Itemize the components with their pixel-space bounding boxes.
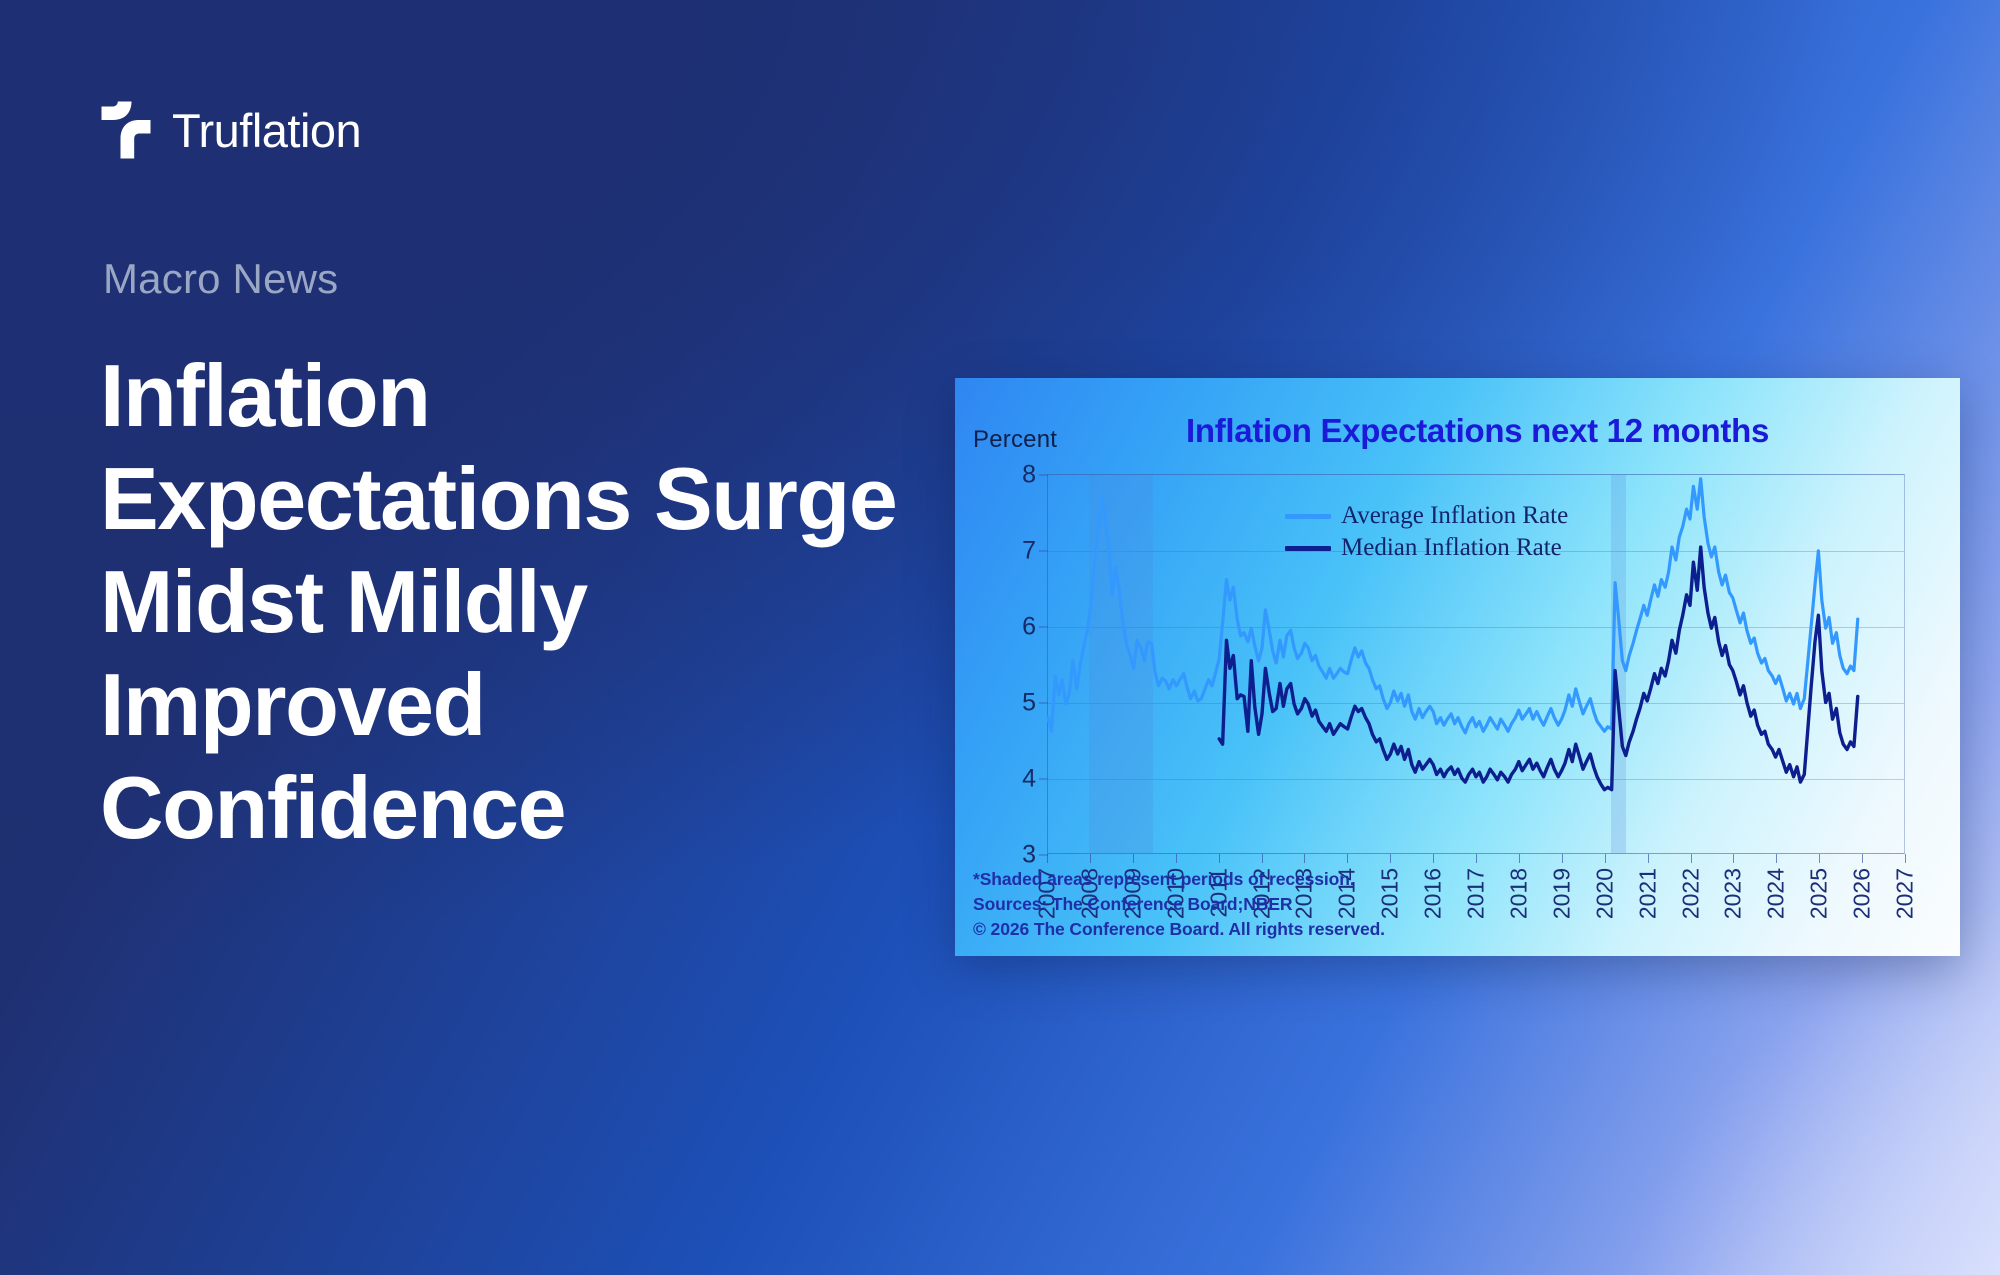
x-axis-tick-mark xyxy=(1819,854,1820,863)
footnote-copyright: © 2026 The Conference Board. All rights … xyxy=(973,917,1385,942)
y-axis-tick-label: 7 xyxy=(1022,539,1036,564)
footnote-sources: Sources: The Conference Board;NBER xyxy=(973,892,1385,917)
chart-title: Inflation Expectations next 12 months xyxy=(955,412,1960,450)
x-axis-tick-label: 2026 xyxy=(1851,868,1874,919)
x-axis-tick-mark xyxy=(1733,854,1734,863)
legend-swatch-average xyxy=(1285,514,1331,519)
y-axis-tick-label: 5 xyxy=(1022,691,1036,716)
article-kicker: Macro News xyxy=(103,255,338,303)
x-axis-tick-label: 2027 xyxy=(1894,868,1917,919)
y-axis-tick-mark xyxy=(1039,627,1048,628)
x-axis-tick-label: 2023 xyxy=(1722,868,1745,919)
x-axis-tick-mark xyxy=(1648,854,1649,863)
x-axis-tick-mark xyxy=(1605,854,1606,863)
y-axis-tick-mark xyxy=(1039,779,1048,780)
legend-item-average: Average Inflation Rate xyxy=(1285,500,1568,532)
y-axis-tick-mark xyxy=(1039,703,1048,704)
y-axis-tick-label: 3 xyxy=(1022,843,1036,868)
footnote-shaded: *Shaded areas represent periods of reces… xyxy=(973,867,1385,892)
x-axis-tick-mark xyxy=(1304,854,1305,863)
x-axis-tick-mark xyxy=(1562,854,1563,863)
y-axis-tick-mark xyxy=(1039,551,1048,552)
x-axis-tick-mark xyxy=(1862,854,1863,863)
x-axis-tick-mark xyxy=(1047,854,1048,863)
x-axis-tick-mark xyxy=(1390,854,1391,863)
x-axis-tick-label: 2017 xyxy=(1465,868,1488,919)
x-axis-tick-mark xyxy=(1691,854,1692,863)
x-axis-tick-mark xyxy=(1519,854,1520,863)
x-axis-tick-label: 2019 xyxy=(1550,868,1573,919)
x-axis-tick-mark xyxy=(1347,854,1348,863)
x-axis-tick-label: 2025 xyxy=(1808,868,1831,919)
x-axis-tick-mark xyxy=(1776,854,1777,863)
x-axis-tick-label: 2018 xyxy=(1507,868,1530,919)
x-axis-tick-mark xyxy=(1905,854,1906,863)
poster-canvas: Truflation Macro News Inflation Expectat… xyxy=(0,0,2000,1275)
truflation-logo-mark-icon xyxy=(100,100,152,160)
x-axis-tick-label: 2022 xyxy=(1679,868,1702,919)
y-axis-tick-label: 4 xyxy=(1022,767,1036,792)
series-line-median xyxy=(1219,547,1858,790)
x-axis-tick-mark xyxy=(1476,854,1477,863)
brand-wordmark: Truflation xyxy=(172,107,361,154)
x-axis-tick-label: 2016 xyxy=(1422,868,1445,919)
x-axis-tick-mark xyxy=(1262,854,1263,863)
chart-card: Percent Inflation Expectations next 12 m… xyxy=(955,378,1960,956)
x-axis-tick-mark xyxy=(1090,854,1091,863)
y-axis-tick-mark xyxy=(1039,475,1048,476)
legend-label-median: Median Inflation Rate xyxy=(1341,532,1562,564)
x-axis-tick-label: 2024 xyxy=(1765,868,1788,919)
chart-legend: Average Inflation Rate Median Inflation … xyxy=(1285,500,1568,564)
legend-item-median: Median Inflation Rate xyxy=(1285,532,1568,564)
x-axis-tick-mark xyxy=(1433,854,1434,863)
page-title: Inflation Expectations Surge Midst Mildl… xyxy=(100,345,940,860)
y-axis-tick-label: 6 xyxy=(1022,615,1036,640)
y-axis-tick-label: 8 xyxy=(1022,463,1036,488)
x-axis-tick-label: 2020 xyxy=(1593,868,1616,919)
x-axis-tick-mark xyxy=(1133,854,1134,863)
x-axis-tick-mark xyxy=(1219,854,1220,863)
legend-swatch-median xyxy=(1285,546,1331,551)
x-axis-tick-label: 2021 xyxy=(1636,868,1659,919)
x-axis-tick-mark xyxy=(1176,854,1177,863)
brand-logo[interactable]: Truflation xyxy=(100,100,361,160)
chart-figure: Percent Inflation Expectations next 12 m… xyxy=(955,378,1960,956)
legend-label-average: Average Inflation Rate xyxy=(1341,500,1568,532)
chart-footnotes: *Shaded areas represent periods of reces… xyxy=(973,867,1385,942)
